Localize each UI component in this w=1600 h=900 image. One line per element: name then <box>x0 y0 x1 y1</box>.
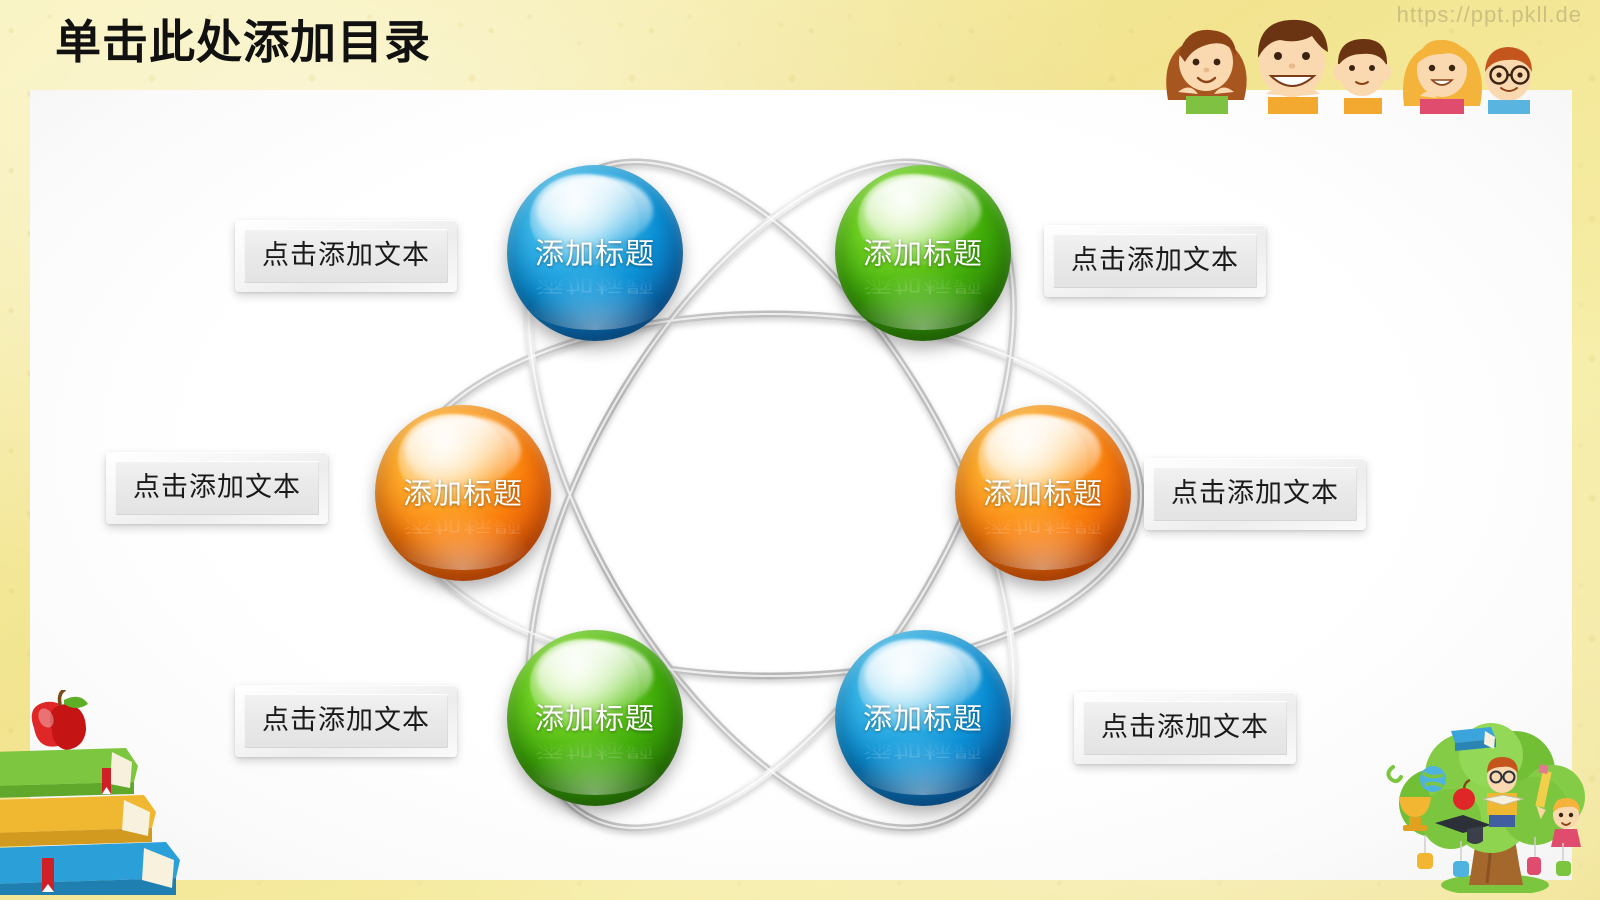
sphere-rim-light <box>525 271 666 331</box>
page-title[interactable]: 单击此处添加目录 <box>55 16 431 69</box>
sphere-label: 添加标题 <box>375 470 551 512</box>
sphere-label-reflection: 添加标题 <box>835 739 1011 765</box>
sphere-body: 添加标题 添加标题 <box>835 630 1011 806</box>
caption-text: 点击添加文本 <box>1071 246 1239 276</box>
sphere-body: 添加标题 添加标题 <box>375 405 551 581</box>
caption-inner-bevel: 点击添加文本 <box>1083 701 1287 755</box>
caption-text: 点击添加文本 <box>133 473 301 503</box>
sphere-label-reflection: 添加标题 <box>835 274 1011 300</box>
sphere-label: 添加标题 <box>507 695 683 737</box>
content-panel: 添加标题 添加标题 添加标题 添加标题 添加标题 添加标题 <box>30 90 1572 880</box>
caption-text: 点击添加文本 <box>1101 713 1269 743</box>
sphere-body: 添加标题 添加标题 <box>955 405 1131 581</box>
sphere-body: 添加标题 添加标题 <box>835 165 1011 341</box>
sphere-label: 添加标题 <box>835 230 1011 272</box>
caption-inner-bevel: 点击添加文本 <box>1153 467 1357 521</box>
caption-inner-bevel: 点击添加文本 <box>1053 234 1257 288</box>
caption-text: 点击添加文本 <box>262 241 430 271</box>
caption-box-middle-left[interactable]: 点击添加文本 <box>106 452 328 524</box>
sphere-label: 添加标题 <box>835 695 1011 737</box>
caption-box-bottom-right[interactable]: 点击添加文本 <box>1074 692 1296 764</box>
caption-box-top-left[interactable]: 点击添加文本 <box>235 220 457 292</box>
node-sphere-middle-right[interactable]: 添加标题 添加标题 <box>955 405 1131 581</box>
sphere-label: 添加标题 <box>955 470 1131 512</box>
node-sphere-top-right[interactable]: 添加标题 添加标题 <box>835 165 1011 341</box>
sphere-rim-light <box>973 511 1114 571</box>
sphere-rim-light <box>853 736 994 796</box>
sphere-rim-light <box>525 736 666 796</box>
node-sphere-middle-left[interactable]: 添加标题 添加标题 <box>375 405 551 581</box>
caption-text: 点击添加文本 <box>1171 479 1339 509</box>
node-sphere-bottom-left[interactable]: 添加标题 添加标题 <box>507 630 683 806</box>
sphere-label-reflection: 添加标题 <box>375 514 551 540</box>
caption-inner-bevel: 点击添加文本 <box>244 694 448 748</box>
node-sphere-bottom-right[interactable]: 添加标题 添加标题 <box>835 630 1011 806</box>
caption-box-bottom-left[interactable]: 点击添加文本 <box>235 685 457 757</box>
sphere-body: 添加标题 添加标题 <box>507 630 683 806</box>
sphere-label: 添加标题 <box>507 230 683 272</box>
caption-inner-bevel: 点击添加文本 <box>244 229 448 283</box>
caption-text: 点击添加文本 <box>262 706 430 736</box>
sphere-label-reflection: 添加标题 <box>507 739 683 765</box>
sphere-rim-light <box>393 511 534 571</box>
caption-box-middle-right[interactable]: 点击添加文本 <box>1144 458 1366 530</box>
caption-inner-bevel: 点击添加文本 <box>115 461 319 515</box>
slide-canvas: 单击此处添加目录 https://ppt.pkll.de <box>0 0 1600 900</box>
sphere-label-reflection: 添加标题 <box>955 514 1131 540</box>
caption-box-top-right[interactable]: 点击添加文本 <box>1044 225 1266 297</box>
sphere-rim-light <box>853 271 994 331</box>
node-sphere-top-left[interactable]: 添加标题 添加标题 <box>507 165 683 341</box>
sphere-body: 添加标题 添加标题 <box>507 165 683 341</box>
watermark-url: https://ppt.pkll.de <box>1397 2 1582 28</box>
sphere-label-reflection: 添加标题 <box>507 274 683 300</box>
